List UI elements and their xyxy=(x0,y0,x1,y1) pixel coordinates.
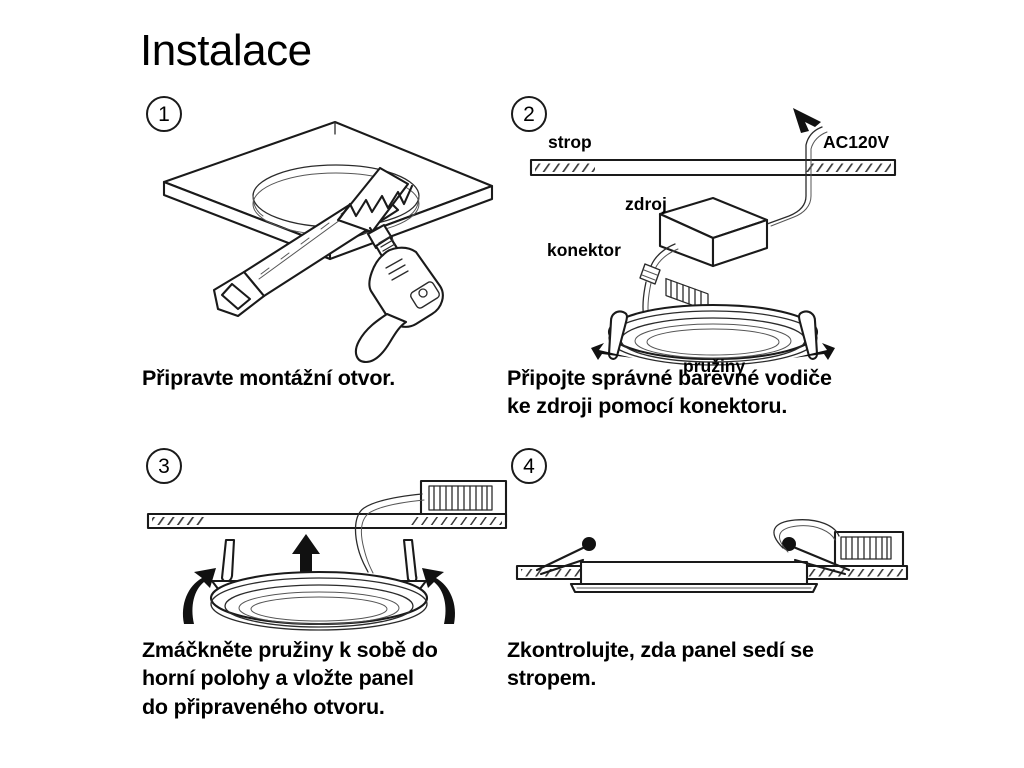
panel-wire xyxy=(774,520,839,552)
step-2-caption: Připojte správné barevné vodiče ke zdroj… xyxy=(507,364,832,421)
led-panel xyxy=(211,572,427,630)
step-4-figure xyxy=(505,452,925,637)
step-3-caption-line-2: horní polohy a vložte panel xyxy=(142,664,438,692)
step-2: 2 xyxy=(505,92,925,432)
label-ceiling: strop xyxy=(548,132,592,152)
step-4-caption: Zkontrolujte, zda panel sedí se stropem. xyxy=(507,636,814,693)
page-title: Instalace xyxy=(140,26,312,76)
ceiling-bar xyxy=(148,514,506,528)
step-1-caption-line-1: Připravte montážní otvor. xyxy=(142,364,395,392)
step-4: 4 xyxy=(505,444,925,744)
step-3-caption-line-3: do připraveného otvoru. xyxy=(142,693,438,721)
step-3-figure xyxy=(140,452,505,637)
step-4-caption-line-2: stropem. xyxy=(507,664,814,692)
ceiling-bar xyxy=(531,160,895,175)
steps-grid: 1 xyxy=(140,92,940,742)
step-4-caption-line-1: Zkontrolujte, zda panel sedí se xyxy=(507,636,814,664)
installed-panel-illustration xyxy=(505,452,925,637)
driver-box xyxy=(660,198,767,311)
label-connector: konektor xyxy=(547,240,621,260)
step-2-caption-line-2: ke zdroji pomocí konektoru. xyxy=(507,392,832,420)
ceiling-slab-with-saw-illustration xyxy=(140,100,505,370)
step-3-caption-line-1: Zmáčkněte pružiny k sobě do xyxy=(142,636,438,664)
driver-box-on-ceiling xyxy=(835,532,903,568)
wiring-and-panel-illustration: strop AC120V zdroj konektor pružiny xyxy=(505,100,925,370)
mains-wire xyxy=(767,127,827,226)
installed-panel xyxy=(571,562,817,592)
step-3: 3 xyxy=(140,444,505,744)
step-1: 1 xyxy=(140,92,505,432)
label-driver: zdroj xyxy=(625,194,667,214)
step-2-caption-line-1: Připojte správné barevné vodiče xyxy=(507,364,832,392)
connector xyxy=(640,264,660,284)
label-mains: AC120V xyxy=(823,132,889,152)
step-3-caption: Zmáčkněte pružiny k sobě do horní polohy… xyxy=(142,636,438,721)
step-1-figure xyxy=(140,100,505,370)
panel-insertion-illustration xyxy=(140,452,505,637)
step-1-caption: Připravte montážní otvor. xyxy=(142,364,395,392)
installation-instruction-sheet: Instalace 1 xyxy=(0,0,1024,768)
step-2-figure: strop AC120V zdroj konektor pružiny xyxy=(505,100,925,370)
